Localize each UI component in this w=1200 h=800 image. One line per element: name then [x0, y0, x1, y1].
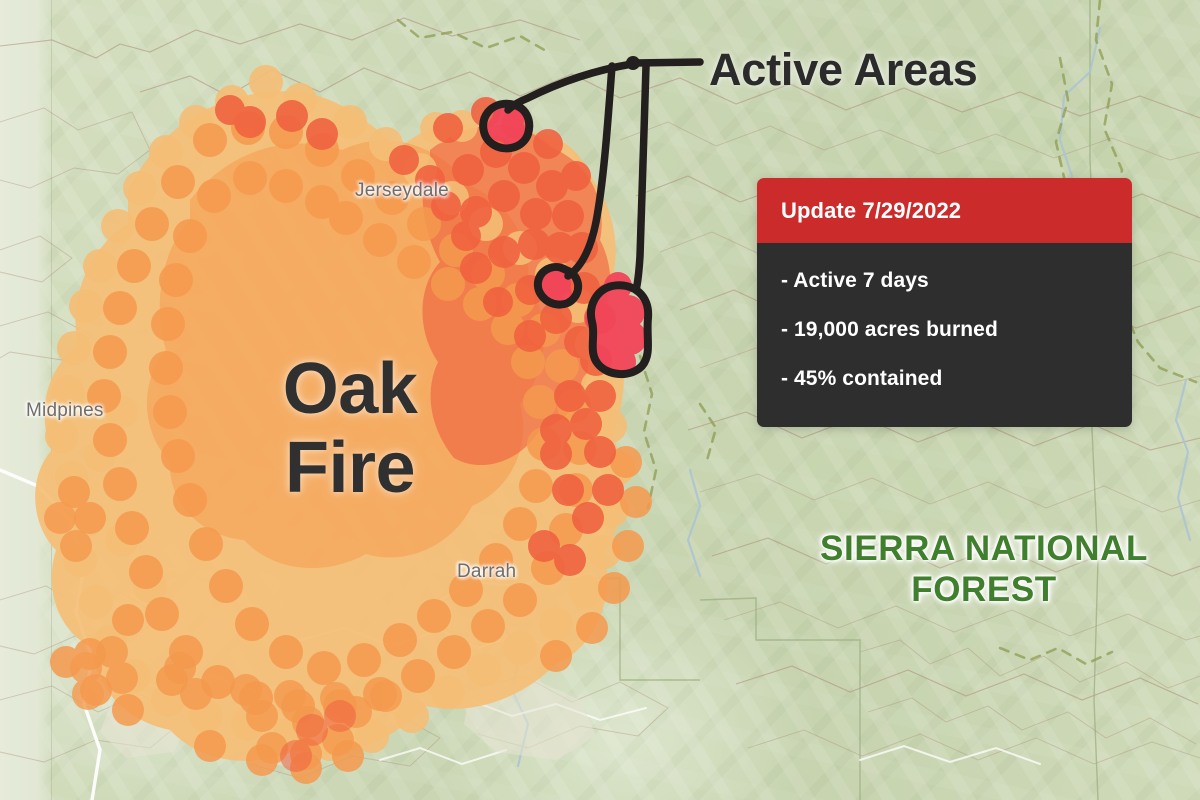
- update-card-header: Update 7/29/2022: [757, 178, 1132, 243]
- stat-acres-burned: - 19,000 acres burned: [781, 305, 1108, 354]
- active-area-circle-bottom: [591, 285, 648, 374]
- stat-days-active: - Active 7 days: [781, 256, 1108, 305]
- place-label-darrah: Darrah: [457, 561, 516, 583]
- leader-line-middle: [568, 66, 612, 276]
- active-area-circle-middle: [538, 267, 578, 305]
- wildfire-map-graphic: Jerseydale Midpines Darrah Oak Fire Acti…: [0, 0, 1200, 800]
- fire-update-card: Update 7/29/2022 - Active 7 days - 19,00…: [757, 178, 1132, 427]
- place-label-midpines: Midpines: [26, 400, 104, 422]
- fire-name-label: Oak Fire: [252, 350, 448, 508]
- place-label-jerseydale: Jerseydale: [355, 180, 449, 202]
- active-areas-callout-label: Active Areas: [709, 44, 978, 96]
- leader-line-label: [633, 62, 700, 63]
- forest-name-line-1: SIERRA NATIONAL: [806, 528, 1162, 569]
- update-card-body: - Active 7 days - 19,000 acres burned - …: [757, 243, 1132, 427]
- fire-name-line-2: Fire: [252, 429, 448, 508]
- forest-name-label: SIERRA NATIONAL FOREST: [806, 528, 1162, 611]
- stat-percent-contained: - 45% contained: [781, 354, 1108, 403]
- forest-name-line-2: FOREST: [806, 569, 1162, 610]
- fire-name-line-1: Oak: [252, 350, 448, 429]
- leader-junction-nub: [626, 56, 640, 70]
- leader-line-bottom: [636, 66, 646, 290]
